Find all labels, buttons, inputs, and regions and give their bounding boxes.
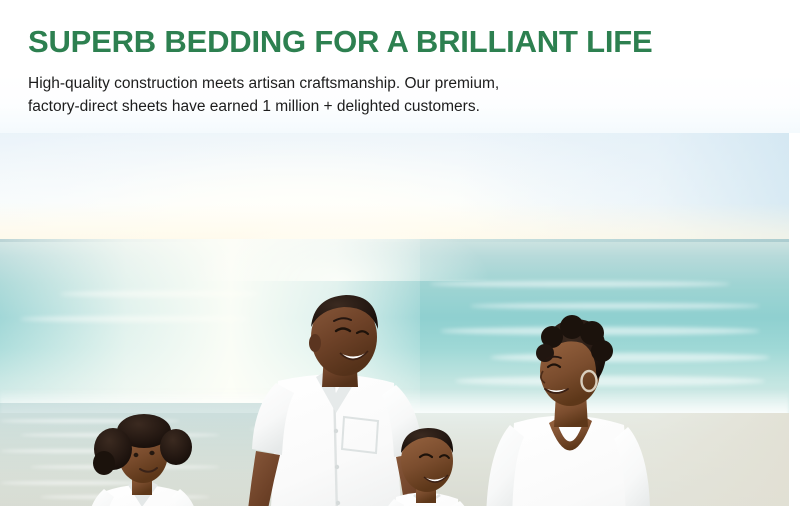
promo-banner: SUPERB BEDDING FOR A BRILLIANT LIFE High… [0,0,800,506]
banner-subcopy: High-quality construction meets artisan … [28,72,668,118]
banner-hero-image [0,131,789,506]
figure-father [239,295,430,506]
page-title: SUPERB BEDDING FOR A BRILLIANT LIFE [28,24,652,60]
family-figures [0,131,789,506]
figure-mother [486,315,650,506]
subcopy-line-2: factory-direct sheets have earned 1 mill… [28,95,668,118]
subcopy-line-1: High-quality construction meets artisan … [28,72,668,95]
banner-text-block: SUPERB BEDDING FOR A BRILLIANT LIFE High… [0,0,800,133]
image-right-edge-strip [789,131,800,506]
figure-girl [80,414,240,506]
